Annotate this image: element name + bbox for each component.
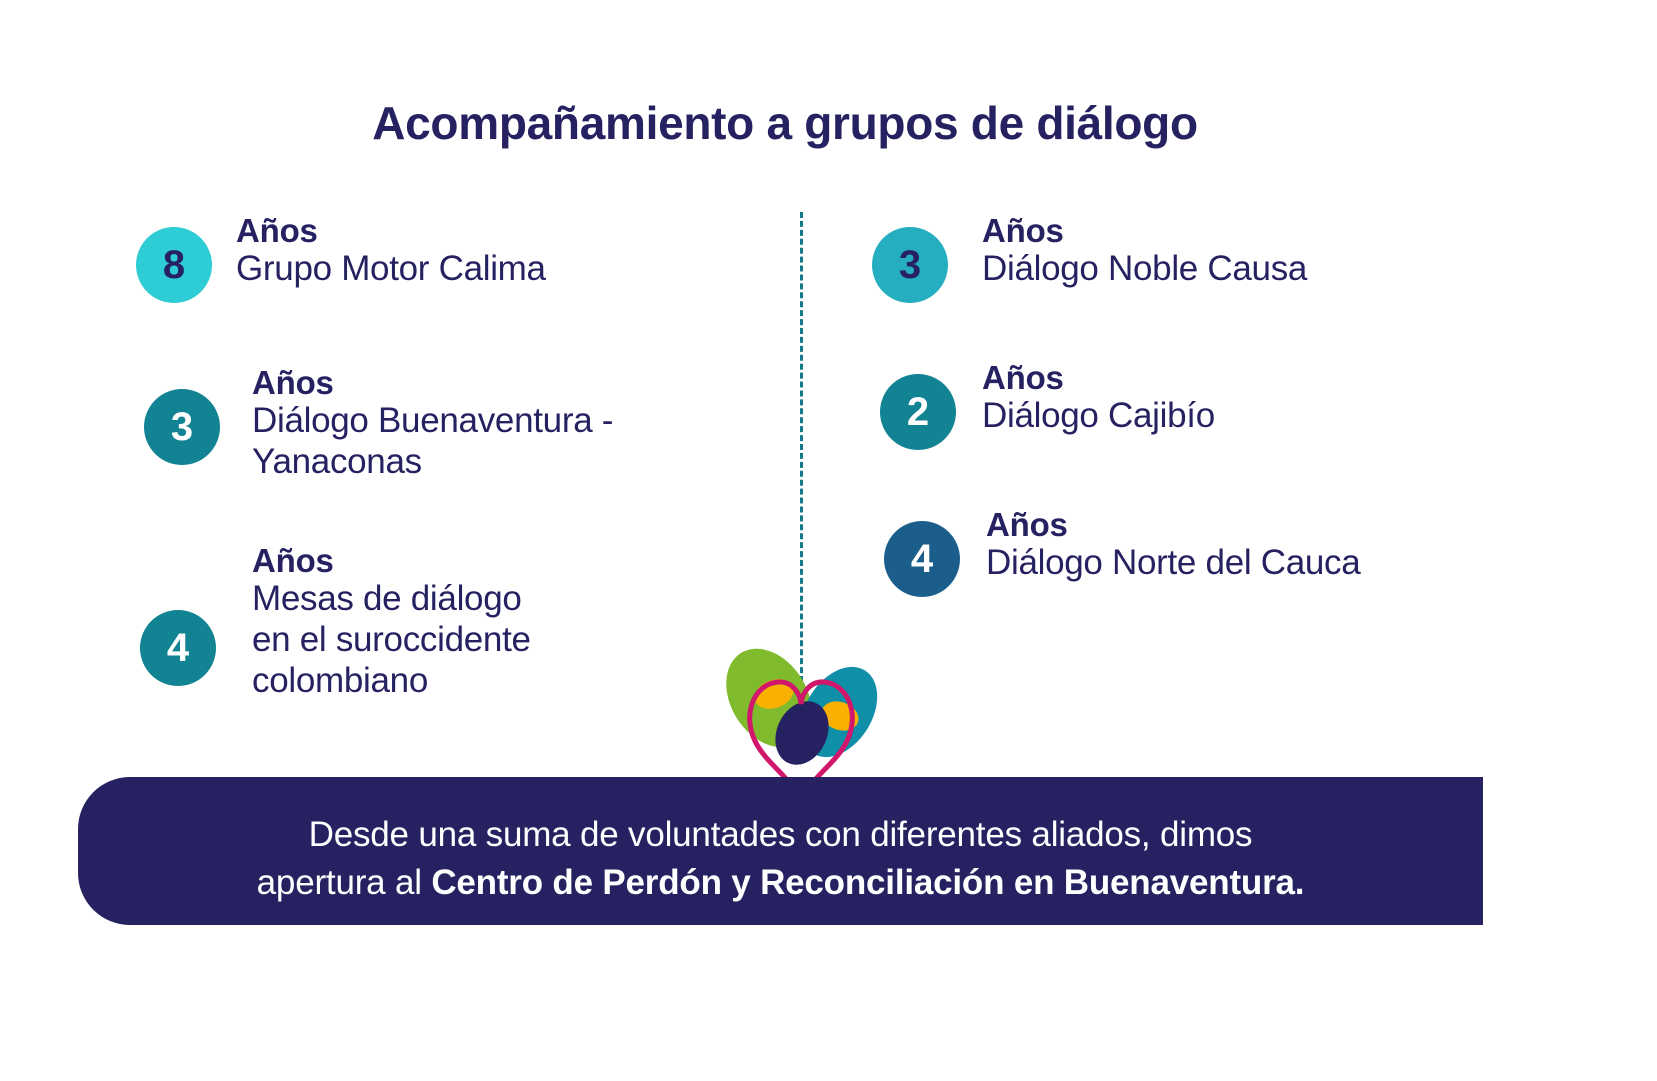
entry-description: Mesas de diálogo en el suroccidente colo… <box>252 579 776 702</box>
badge-number: 2 <box>907 392 929 432</box>
banner-line-2: apertura al Centro de Perdón y Reconcili… <box>78 859 1483 907</box>
list-item: 4 Años Mesas de diálogo en el surocciden… <box>136 542 776 702</box>
banner-text: Desde una suma de voluntades con diferen… <box>78 811 1483 906</box>
entry-years-label: Años <box>982 212 1512 249</box>
year-badge-3-noble-causa: 3 <box>872 227 948 303</box>
banner-line-2-prefix: apertura al <box>257 863 432 902</box>
vertical-dashed-divider <box>800 212 803 682</box>
banner-line-2-bold: Centro de Perdón y Reconciliación en Bue… <box>431 863 1304 902</box>
entry-description: Diálogo Cajibío <box>982 396 1512 437</box>
page-title: Acompañamiento a grupos de diálogo <box>0 96 1570 150</box>
list-item: 8 Años Grupo Motor Calima <box>136 212 776 290</box>
bottom-banner: Desde una suma de voluntades con diferen… <box>78 777 1483 925</box>
list-item: 4 Años Diálogo Norte del Cauca <box>872 506 1512 584</box>
entry-description: Diálogo Buenaventura - Yanaconas <box>252 401 776 483</box>
entry-years-label: Años <box>982 359 1512 396</box>
badge-number: 3 <box>171 407 193 447</box>
year-badge-4-mesas: 4 <box>140 610 216 686</box>
badge-number: 4 <box>911 539 933 579</box>
banner-line-1: Desde una suma de voluntades con diferen… <box>78 811 1483 859</box>
entry-text: Años Grupo Motor Calima <box>236 212 776 290</box>
entry-description: Diálogo Norte del Cauca <box>986 543 1512 584</box>
badge-number: 8 <box>163 245 185 285</box>
badge-number: 4 <box>167 628 189 668</box>
entry-text: Años Diálogo Cajibío <box>982 359 1512 437</box>
entry-text: Años Diálogo Buenaventura - Yanaconas <box>252 364 776 483</box>
entry-text: Años Mesas de diálogo en el suroccidente… <box>252 542 776 702</box>
list-item: 2 Años Diálogo Cajibío <box>872 359 1512 437</box>
badge-number: 3 <box>899 245 921 285</box>
entry-years-label: Años <box>252 542 776 579</box>
entry-years-label: Años <box>986 506 1512 543</box>
entry-text: Años Diálogo Noble Causa <box>982 212 1512 290</box>
entry-description: Grupo Motor Calima <box>236 249 776 290</box>
year-badge-4-norte-del-cauca: 4 <box>884 521 960 597</box>
year-badge-2-cajibio: 2 <box>880 374 956 450</box>
entry-description: Diálogo Noble Causa <box>982 249 1512 290</box>
entry-years-label: Años <box>252 364 776 401</box>
list-item: 3 Años Diálogo Noble Causa <box>872 212 1512 290</box>
year-badge-3-buenaventura: 3 <box>144 389 220 465</box>
entry-years-label: Años <box>236 212 776 249</box>
year-badge-8: 8 <box>136 227 212 303</box>
entry-text: Años Diálogo Norte del Cauca <box>986 506 1512 584</box>
list-item: 3 Años Diálogo Buenaventura - Yanaconas <box>136 364 776 483</box>
